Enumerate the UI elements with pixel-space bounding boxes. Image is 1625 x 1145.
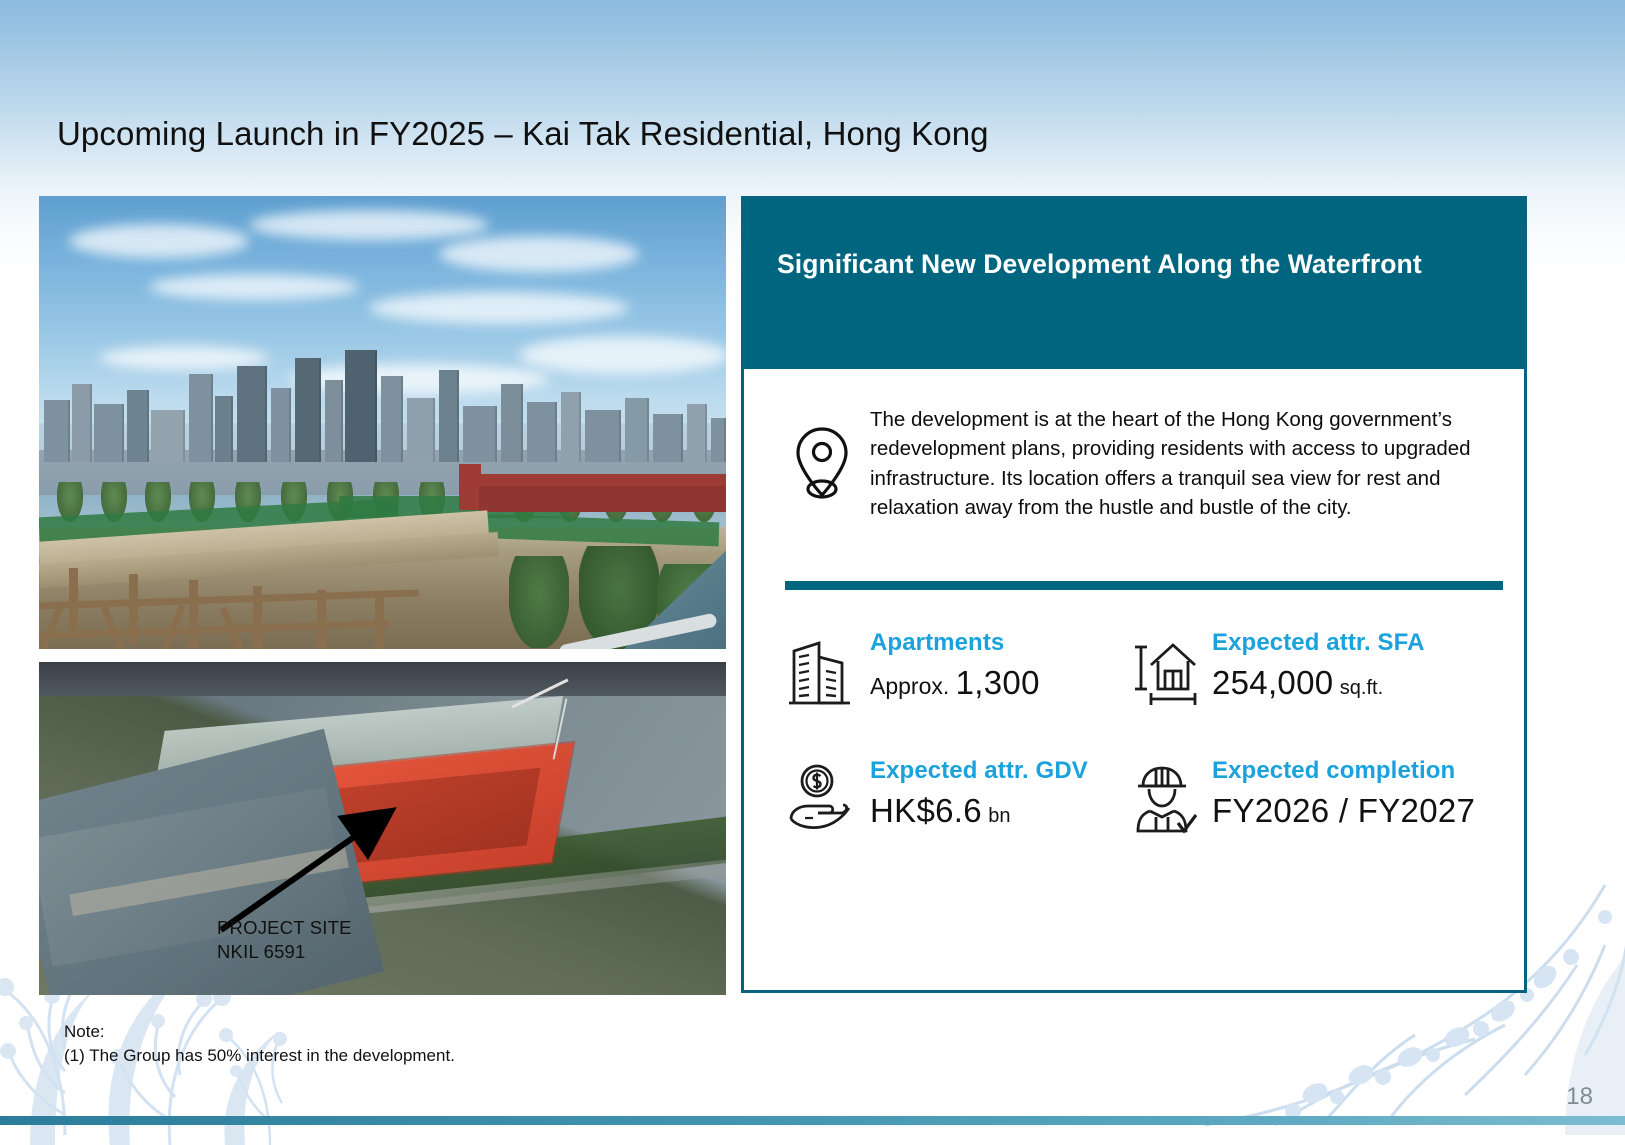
card-header-title: Significant New Development Along the Wa… (777, 247, 1491, 283)
stat-gdv-unit: bn (988, 805, 1010, 827)
stat-apartments: Apartments Approx. 1,300 (744, 627, 1106, 709)
photo-aerial-site: PROJECT SITE NKIL 6591 (39, 662, 726, 995)
footnote-line-1: (1) The Group has 50% interest in the de… (64, 1044, 455, 1068)
stat-sfa-unit: sq.ft. (1340, 677, 1383, 699)
footnote-heading: Note: (64, 1020, 455, 1044)
stats-row-2: Expected attr. GDV HK$6.6 bn (744, 755, 1524, 837)
stat-apartments-label: Apartments (870, 629, 1040, 657)
house-measure-icon (1116, 627, 1212, 709)
stat-apartments-text: Apartments Approx. 1,300 (870, 627, 1040, 702)
stat-completion-value: FY2026 / FY2027 (1212, 792, 1475, 830)
stat-sfa-label: Expected attr. SFA (1212, 629, 1425, 657)
page-title: Upcoming Launch in FY2025 – Kai Tak Resi… (57, 115, 989, 153)
page-number: 18 (1566, 1083, 1593, 1111)
stat-completion-label: Expected completion (1212, 757, 1475, 785)
stat-completion-number: FY2026 / FY2027 (1212, 792, 1475, 829)
stat-completion: Expected completion FY2026 / FY2027 (1106, 755, 1524, 837)
stat-sfa-text: Expected attr. SFA 254,000 sq.ft. (1212, 627, 1425, 702)
stat-apartments-value: Approx. 1,300 (870, 664, 1040, 702)
section-divider (785, 581, 1503, 590)
project-site-annotation: PROJECT SITE NKIL 6591 (217, 916, 352, 963)
card-body: The development is at the heart of the H… (744, 369, 1524, 990)
stat-gdv: Expected attr. GDV HK$6.6 bn (744, 755, 1106, 837)
stat-gdv-value: HK$6.6 bn (870, 792, 1088, 830)
buildings-icon (774, 627, 870, 709)
card-header: Significant New Development Along the Wa… (744, 199, 1524, 369)
stat-sfa: Expected attr. SFA 254,000 sq.ft. (1106, 627, 1524, 709)
map-pin-icon (774, 405, 870, 503)
stats-row-1: Apartments Approx. 1,300 (744, 627, 1524, 709)
stat-gdv-number: HK$6.6 (870, 792, 982, 829)
hand-coin-icon (774, 755, 870, 833)
stat-completion-text: Expected completion FY2026 / FY2027 (1212, 755, 1475, 830)
stat-sfa-number: 254,000 (1212, 664, 1333, 701)
stat-sfa-value: 254,000 sq.ft. (1212, 664, 1425, 702)
stat-gdv-text: Expected attr. GDV HK$6.6 bn (870, 755, 1088, 830)
description-row: The development is at the heart of the H… (744, 369, 1524, 522)
bottom-accent-strip (0, 1116, 1625, 1125)
stat-apartments-number: 1,300 (956, 664, 1040, 701)
footnote: Note: (1) The Group has 50% interest in … (64, 1020, 455, 1068)
project-site-line-1: PROJECT SITE (217, 916, 352, 940)
stat-apartments-prefix: Approx. (870, 673, 949, 699)
photo-waterfront-construction (39, 196, 726, 649)
stats-grid: Apartments Approx. 1,300 (744, 627, 1524, 837)
project-site-line-2: NKIL 6591 (217, 940, 352, 964)
description-text: The development is at the heart of the H… (870, 405, 1496, 522)
info-card: Significant New Development Along the Wa… (741, 196, 1527, 993)
stat-gdv-label: Expected attr. GDV (870, 757, 1088, 785)
worker-icon (1116, 755, 1212, 837)
